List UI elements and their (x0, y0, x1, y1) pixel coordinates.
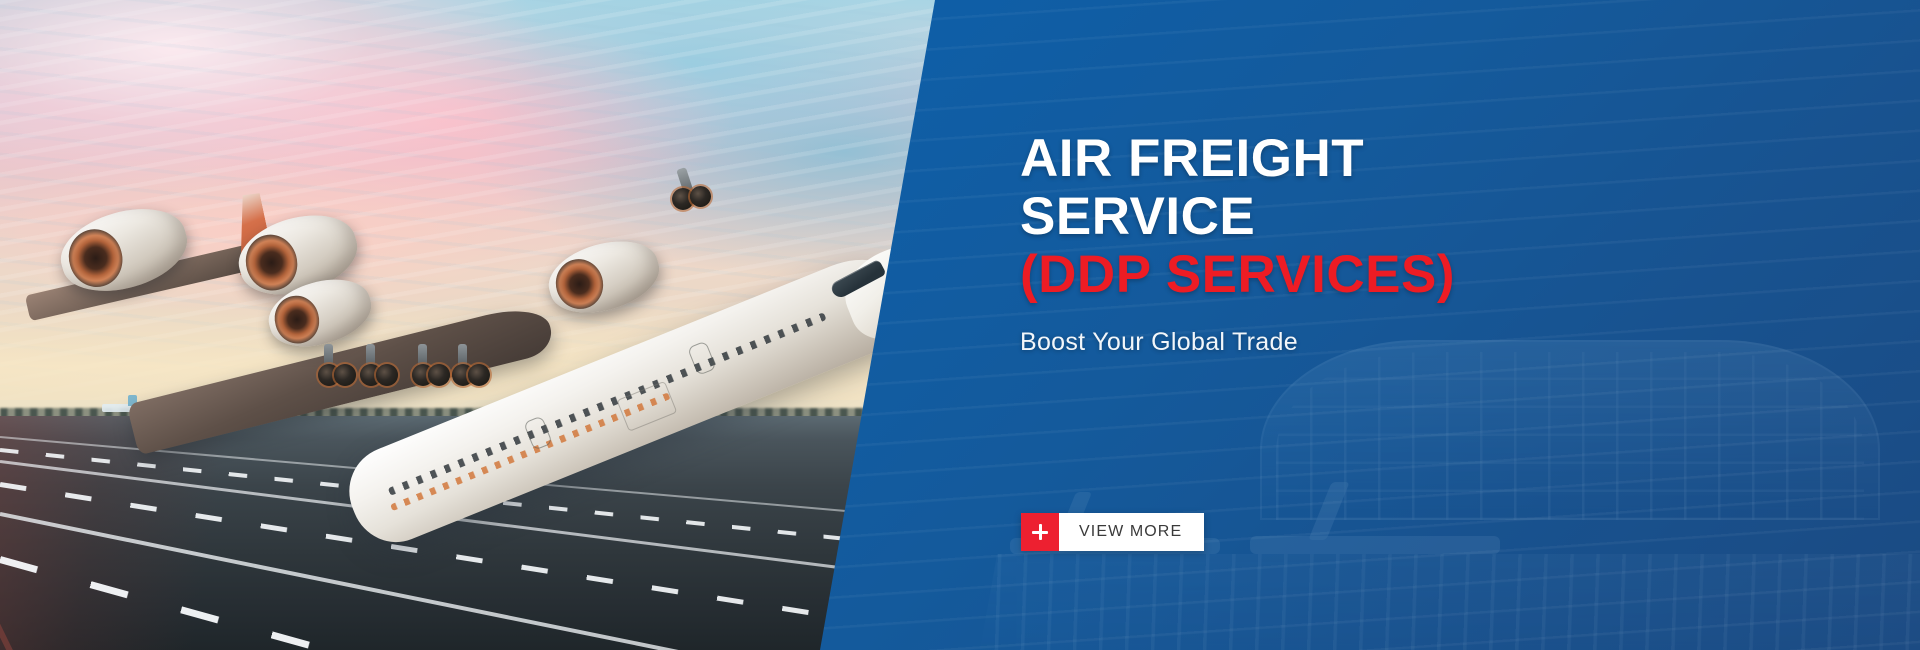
nose-gear-wheel (690, 186, 711, 207)
banner-subtitle: Boost Your Global Trade (1020, 328, 1840, 357)
view-more-label: VIEW MORE (1059, 513, 1204, 551)
banner-text-block: AIR FREIGHT SERVICE (DDP SERVICES) Boost… (1020, 130, 1840, 357)
landing-gear-wheels (318, 364, 344, 386)
plus-icon (1021, 513, 1059, 551)
headline-line-1: AIR FREIGHT (1020, 130, 1840, 188)
landing-gear-wheels (412, 364, 438, 386)
hero-photo-airplane-takeoff (0, 0, 960, 650)
landing-gear-wheels (360, 364, 386, 386)
view-more-button[interactable]: VIEW MORE (1021, 513, 1204, 551)
landing-gear-wheels (452, 364, 478, 386)
parked-plane-icon (1250, 536, 1500, 554)
terminal-building-icon (1260, 340, 1880, 520)
apron-surface (920, 554, 1920, 650)
headline-accent-ddp-services: (DDP SERVICES) (1020, 246, 1840, 304)
air-freight-hero-banner: AIR FREIGHT SERVICE (DDP SERVICES) Boost… (0, 0, 1920, 650)
airliner-illustration (0, 0, 960, 650)
cargo-hatch (616, 381, 677, 432)
jet-engine (541, 230, 667, 324)
headline-line-2: SERVICE (1020, 188, 1840, 246)
